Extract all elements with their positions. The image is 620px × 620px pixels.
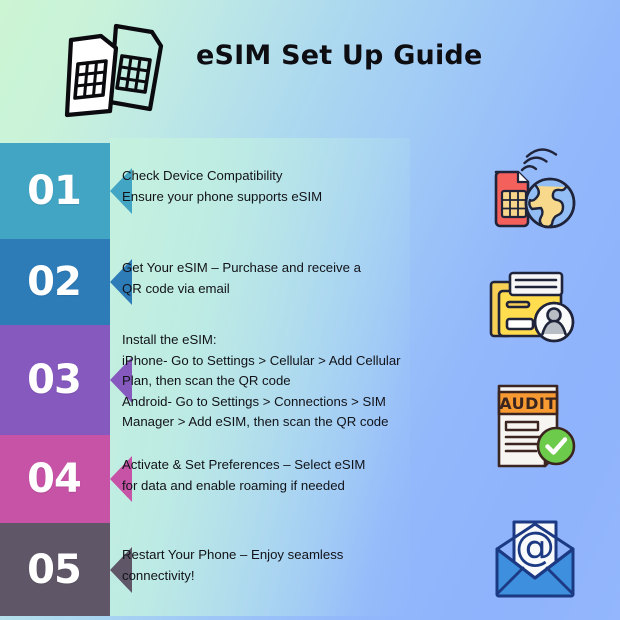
page-title: eSIM Set Up Guide [196, 40, 576, 71]
step-number-band-01: 01 [0, 143, 110, 239]
step-row-05[interactable]: 05 Restart Your Phone – Enjoy seamless c… [0, 523, 410, 616]
step-number-04: 04 [27, 456, 81, 502]
step-number-01: 01 [27, 168, 81, 214]
sim-card-globe-icon [482, 148, 582, 238]
step-text-04: Activate & Set Preferences – Select eSIM… [122, 455, 422, 496]
audit-document-check-icon: AUDIT [487, 378, 581, 470]
step-row-02[interactable]: 02 Get Your eSIM – Purchase and receive … [0, 239, 410, 325]
header: eSIM Set Up Guide [0, 0, 620, 130]
step-number-03: 03 [27, 357, 81, 403]
step-number-band-04: 04 [0, 435, 110, 523]
step-text-01: Check Device Compatibility Ensure your p… [122, 166, 402, 207]
id-card-person-icon [485, 262, 581, 346]
step-row-03[interactable]: 03 Install the eSIM: iPhone- Go to Setti… [0, 325, 410, 435]
step-number-band-02: 02 [0, 239, 110, 325]
step-number-02: 02 [27, 259, 81, 305]
step-text-02: Get Your eSIM – Purchase and receive a Q… [122, 258, 412, 299]
infographic-canvas: eSIM Set Up Guide 01 Check Device Compat… [0, 0, 620, 620]
step-number-band-03: 03 [0, 325, 110, 435]
step-row-01[interactable]: 01 Check Device Compatibility Ensure you… [0, 143, 410, 239]
step-row-04[interactable]: 04 Activate & Set Preferences – Select e… [0, 435, 410, 523]
step-number-band-05: 05 [0, 523, 110, 616]
audit-label: AUDIT [499, 394, 557, 413]
step-number-05: 05 [27, 547, 81, 593]
email-envelope-at-icon: @ [487, 518, 583, 600]
step-text-03: Install the eSIM: iPhone- Go to Settings… [122, 330, 422, 433]
step-text-05: Restart Your Phone – Enjoy seamless conn… [122, 545, 412, 586]
at-symbol-label: @ [515, 524, 555, 570]
dual-sim-cards-icon [44, 18, 174, 118]
